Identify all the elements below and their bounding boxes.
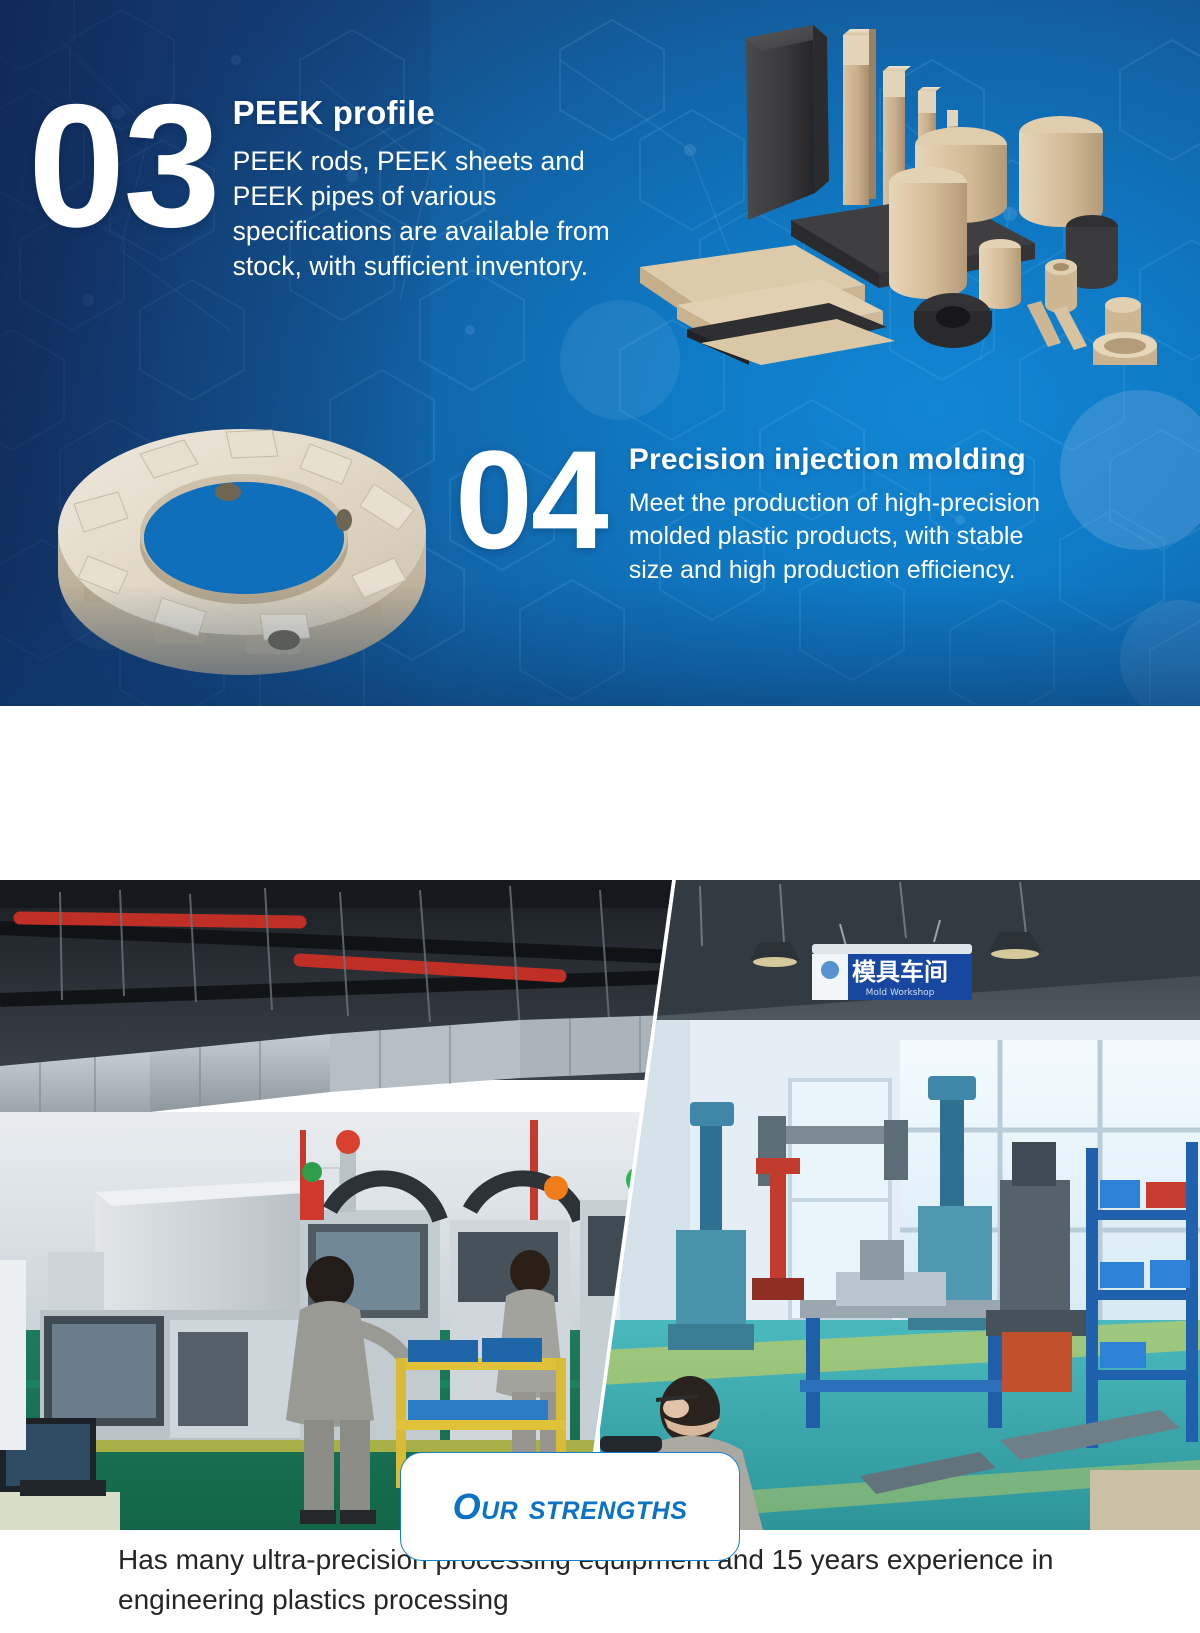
peek-square-bar <box>843 29 876 205</box>
hero-bottom-fade <box>0 586 1200 706</box>
peek-black-block <box>746 25 829 220</box>
whiteboard <box>0 1260 26 1450</box>
feature-title-03: PEEK profile <box>233 94 653 132</box>
feature-body-04: Meet the production of high-precision mo… <box>629 487 1069 587</box>
feature-block-03: 03 PEEK profile PEEK rods, PEEK sheets a… <box>28 88 653 284</box>
peek-profiles-image <box>615 5 1200 365</box>
feature-block-04: 04 Precision injection molding Meet the … <box>455 437 1069 587</box>
gear-bolt-hole <box>336 509 352 531</box>
feature-number-03: 03 <box>28 88 219 246</box>
cardboard-box <box>1090 1470 1200 1530</box>
hero-section: 03 PEEK profile PEEK rods, PEEK sheets a… <box>0 0 1200 706</box>
factory-photos: 模具车间 Mold Workshop <box>0 880 1200 1530</box>
svg-text:Mold Workshop: Mold Workshop <box>866 988 935 998</box>
peek-tube-large <box>1093 332 1157 365</box>
svg-text:模具车间: 模具车间 <box>852 958 948 986</box>
our-strengths-banner: Our strengths <box>0 706 1200 880</box>
feature-body-03: PEEK rods, PEEK sheets and PEEK pipes of… <box>233 144 653 284</box>
our-strengths-label: Our strengths <box>453 1486 688 1528</box>
peek-rod-large <box>1019 116 1103 227</box>
feature-number-04: 04 <box>455 437 607 563</box>
gear-bolt-hole <box>215 483 241 501</box>
peek-rod-large <box>889 167 967 299</box>
feature-title-04: Precision injection molding <box>629 443 1069 477</box>
photo-cnc-workshop <box>0 880 672 1530</box>
peek-tube <box>1045 259 1077 313</box>
peek-rod-medium <box>979 239 1021 309</box>
peek-black-ring <box>914 293 992 348</box>
our-strengths-box: Our strengths <box>400 1452 740 1561</box>
